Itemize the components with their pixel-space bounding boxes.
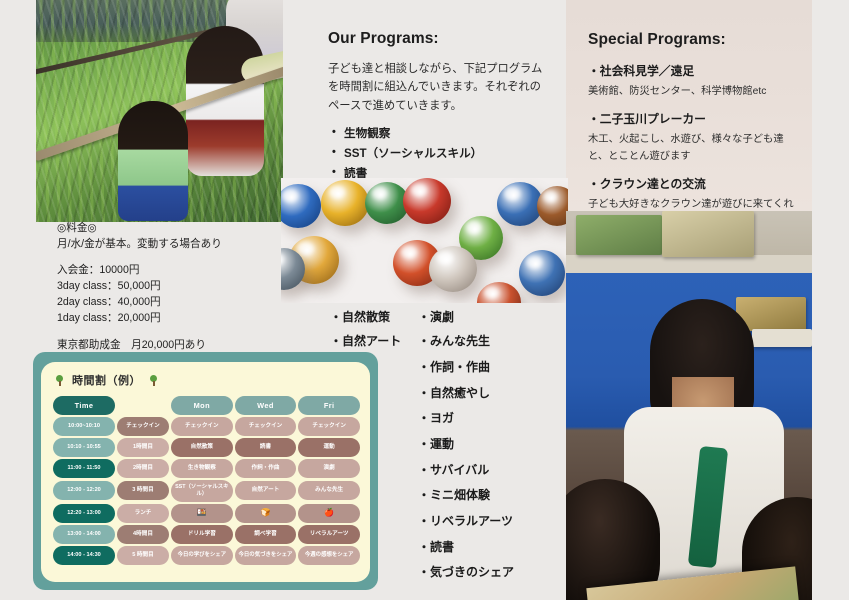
timetable-activity-cell-mon: 今日の学びをシェア bbox=[171, 546, 233, 565]
timetable-activity-cell-mon: 生き物観察 bbox=[171, 459, 233, 478]
program-bullet: SST（ソーシャルスキル） bbox=[328, 144, 550, 164]
photo-shelf bbox=[566, 255, 812, 273]
timetable-row: 13:00 - 14:004時間目ドリル学習調べ学習リベラルアーツ bbox=[53, 525, 360, 544]
pill-label: 調べ学習 bbox=[235, 525, 297, 544]
timetable-period-cell: 5 時間目 bbox=[117, 546, 169, 565]
special-programs-heading: Special Programs: bbox=[588, 31, 796, 49]
pill-label: Mon bbox=[171, 396, 233, 415]
photo-kids-outdoors bbox=[36, 0, 283, 222]
timetable-row: 10:00~10:10チェックインチェックインチェックインチェックイン bbox=[53, 417, 360, 436]
marble bbox=[519, 250, 565, 296]
timetable-period-cell: 1時間目 bbox=[117, 438, 169, 457]
pill-label: 3 時間目 bbox=[117, 481, 169, 500]
timetable-title-row: 時間割（例） bbox=[55, 372, 362, 388]
flyer-page: Our Programs: 子ども達と相談しながら、下記プログラムを時間割に組込… bbox=[0, 0, 849, 600]
activities-top-list: ・自然散策 ・演劇 ・自然アート ・みんな先生 bbox=[330, 305, 560, 353]
timetable-time-cell: 10:10 - 10:55 bbox=[53, 438, 115, 457]
marble bbox=[403, 178, 451, 224]
timetable-activity-cell-fri: 🍎 bbox=[298, 504, 360, 523]
our-programs-bullet-list: 生物観察 SST（ソーシャルスキル） 読書 bbox=[328, 124, 550, 184]
timetable-period-cell: 3 時間目 bbox=[117, 480, 169, 502]
activities-main-list: ・作詞・作曲 ・自然癒やし ・ヨガ ・運動 ・サバイバル ・ミニ畑体験 ・リベラ… bbox=[418, 355, 588, 586]
pill-label: 🍎 bbox=[298, 504, 360, 523]
timetable-card: 時間割（例） TimeMonWedFri10:00~10:10チェックインチェッ… bbox=[33, 352, 378, 590]
fee-line: 1day class：20,000円 bbox=[57, 310, 287, 326]
timetable-time-cell: 13:00 - 14:00 bbox=[53, 525, 115, 544]
special-item-desc: 美術館、防災センター、科学博物館etc bbox=[588, 83, 796, 101]
timetable-activity-cell-mon: ドリル学習 bbox=[171, 525, 233, 544]
timetable-activity-cell-fri: チェックイン bbox=[298, 417, 360, 436]
pill-label: Fri bbox=[298, 396, 360, 415]
activity-item: ・自然散策 bbox=[330, 305, 418, 329]
timetable-row: 11:00 - 11:502時間目生き物観察作詞・作曲演劇 bbox=[53, 459, 360, 478]
photo-marbles bbox=[281, 178, 568, 303]
timetable-row: 10:10 - 10:551時間目自然散策読書運動 bbox=[53, 438, 360, 457]
activity-item: ・サバイバル bbox=[418, 458, 588, 484]
activity-item: ・ミニ畑体験 bbox=[418, 483, 588, 509]
pill-label: リベラルアーツ bbox=[298, 525, 360, 544]
timetable-header-mon: Mon bbox=[171, 396, 233, 415]
timetable-period-cell: 4時間目 bbox=[117, 525, 169, 544]
fee-block: ◎料金◎ 月/水/金が基本。変動する場合あり 入会金：10000円 3day c… bbox=[57, 220, 287, 353]
pill-label: 4時間目 bbox=[117, 525, 169, 544]
pill-label: 🍞 bbox=[235, 504, 297, 523]
photo-book bbox=[752, 329, 812, 347]
timetable-activity-cell-wed: 🍞 bbox=[235, 504, 297, 523]
pill-label: 読書 bbox=[235, 438, 297, 457]
timetable-title: 時間割（例） bbox=[72, 372, 141, 388]
photo-book bbox=[662, 211, 754, 257]
pill-label: 12:00 - 12:20 bbox=[53, 481, 115, 500]
activity-item: ・みんな先生 bbox=[418, 329, 490, 353]
timetable-activity-cell-wed: チェックイン bbox=[235, 417, 297, 436]
timetable-time-cell: 12:20 - 13:00 bbox=[53, 504, 115, 523]
activity-item: ・作詞・作曲 bbox=[418, 355, 588, 381]
timetable-header-spacer bbox=[117, 396, 169, 415]
timetable-activity-cell-mon: チェックイン bbox=[171, 417, 233, 436]
timetable-activity-cell-wed: 作詞・作曲 bbox=[235, 459, 297, 478]
pill-label: 生き物観察 bbox=[171, 459, 233, 478]
timetable-time-cell: 11:00 - 11:50 bbox=[53, 459, 115, 478]
timetable-activity-cell-fri: リベラルアーツ bbox=[298, 525, 360, 544]
special-item-title: ・クラウン達との交流 bbox=[588, 175, 796, 192]
fee-subsidy: 東京都助成金 月20,000円あり bbox=[57, 337, 287, 353]
pill-label: 演劇 bbox=[298, 459, 360, 478]
pill-label: 運動 bbox=[298, 438, 360, 457]
pill-label: Time bbox=[53, 396, 115, 415]
activity-item: ・自然癒やし bbox=[418, 381, 588, 407]
pill-label: 11:00 - 11:50 bbox=[53, 459, 115, 478]
timetable-inner: 時間割（例） TimeMonWedFri10:00~10:10チェックインチェッ… bbox=[41, 362, 370, 582]
timetable-header-time: Time bbox=[53, 396, 115, 415]
activity-row: ・自然散策 ・演劇 bbox=[330, 305, 560, 329]
pill-label: 2時間目 bbox=[117, 459, 169, 478]
pill-label: チェックイン bbox=[298, 417, 360, 436]
activity-item: ・演劇 bbox=[418, 305, 454, 329]
activity-item: ・自然アート bbox=[330, 329, 418, 353]
marble bbox=[429, 246, 477, 292]
timetable-activity-cell-mon: SST（ソーシャルスキル） bbox=[171, 480, 233, 502]
our-programs-panel: Our Programs: 子ども達と相談しながら、下記プログラムを時間割に組込… bbox=[283, 0, 568, 178]
timetable-row: 14:00 - 14:305 時間目今日の学びをシェア今日の気づきをシェア今週の… bbox=[53, 546, 360, 565]
timetable-activity-cell-fri: 運動 bbox=[298, 438, 360, 457]
timetable-table: TimeMonWedFri10:00~10:10チェックインチェックインチェック… bbox=[51, 394, 362, 567]
marble bbox=[537, 186, 568, 226]
timetable-header-fri: Fri bbox=[298, 396, 360, 415]
timetable-activity-cell-wed: 読書 bbox=[235, 438, 297, 457]
marble bbox=[281, 184, 321, 228]
pill-label: 自然アート bbox=[235, 481, 297, 500]
pill-label: 🍱 bbox=[171, 504, 233, 523]
fee-line: 2day class：40,000円 bbox=[57, 294, 287, 310]
activity-item: ・リベラルアーツ bbox=[418, 509, 588, 535]
timetable-time-cell: 10:00~10:10 bbox=[53, 417, 115, 436]
timetable-activity-cell-wed: 今日の気づきをシェア bbox=[235, 546, 297, 565]
special-programs-panel: Special Programs: ・社会科見学／遠足 美術館、防災センター、科… bbox=[566, 0, 812, 211]
marble bbox=[477, 282, 521, 303]
pill-label: みんな先生 bbox=[298, 481, 360, 500]
pill-label: SST（ソーシャルスキル） bbox=[171, 480, 233, 502]
photo-book bbox=[576, 215, 662, 255]
timetable-header-wed: Wed bbox=[235, 396, 297, 415]
fee-line: 入会金：10000円 bbox=[57, 262, 287, 278]
activity-item: ・読書 bbox=[418, 535, 588, 561]
timetable-row: 12:00 - 12:203 時間目SST（ソーシャルスキル）自然アートみんな先… bbox=[53, 480, 360, 502]
timetable-header-row: TimeMonWedFri bbox=[53, 396, 360, 415]
pill-label: チェックイン bbox=[235, 417, 297, 436]
tree-icon bbox=[55, 375, 64, 386]
pill-label: 今週の感想をシェア bbox=[298, 546, 360, 565]
pill-label: 作詞・作曲 bbox=[235, 459, 297, 478]
activity-item: ・運動 bbox=[418, 432, 588, 458]
pill-label: 10:00~10:10 bbox=[53, 417, 115, 436]
activity-item: ・気づきのシェア bbox=[418, 560, 588, 586]
special-item-title: ・社会科見学／遠足 bbox=[588, 62, 796, 79]
photo-classroom bbox=[566, 211, 812, 600]
timetable-period-cell: 2時間目 bbox=[117, 459, 169, 478]
fee-schedule: 月/水/金が基本。変動する場合あり bbox=[57, 236, 287, 252]
our-programs-heading: Our Programs: bbox=[328, 30, 550, 48]
photo-child-boy bbox=[118, 101, 188, 221]
pill-label: ランチ bbox=[117, 504, 169, 523]
pill-label: 今日の学びをシェア bbox=[171, 546, 233, 565]
activity-item: ・ヨガ bbox=[418, 406, 588, 432]
special-item-desc: 木工、火起こし、水遊び、様々な子ども達と、とことん遊びます bbox=[588, 131, 796, 166]
pill-label: チェックイン bbox=[117, 417, 169, 436]
timetable-activity-cell-mon: 🍱 bbox=[171, 504, 233, 523]
timetable-activity-cell-fri: みんな先生 bbox=[298, 480, 360, 502]
pill-label: 自然散策 bbox=[171, 438, 233, 457]
timetable-row: 12:20 - 13:00ランチ🍱🍞🍎 bbox=[53, 504, 360, 523]
pill-label: 13:00 - 14:00 bbox=[53, 525, 115, 544]
pill-label: 14:00 - 14:30 bbox=[53, 546, 115, 565]
timetable-activity-cell-wed: 調べ学習 bbox=[235, 525, 297, 544]
pill-label: 1時間目 bbox=[117, 438, 169, 457]
timetable-period-cell: ランチ bbox=[117, 504, 169, 523]
timetable-activity-cell-fri: 今週の感想をシェア bbox=[298, 546, 360, 565]
program-bullet: 生物観察 bbox=[328, 124, 550, 144]
timetable-time-cell: 12:00 - 12:20 bbox=[53, 480, 115, 502]
pill-label: ドリル学習 bbox=[171, 525, 233, 544]
pill-label: Wed bbox=[235, 396, 297, 415]
tree-icon bbox=[149, 375, 158, 386]
pill-label: 今日の気づきをシェア bbox=[235, 546, 297, 565]
pill-label: 5 時間目 bbox=[117, 546, 169, 565]
timetable-activity-cell-mon: 自然散策 bbox=[171, 438, 233, 457]
timetable-activity-cell-wed: 自然アート bbox=[235, 480, 297, 502]
timetable-activity-cell-fri: 演劇 bbox=[298, 459, 360, 478]
timetable-period-cell: チェックイン bbox=[117, 417, 169, 436]
fee-line: 3day class：50,000円 bbox=[57, 278, 287, 294]
special-item-title: ・二子玉川プレーカー bbox=[588, 110, 796, 127]
activity-row: ・自然アート ・みんな先生 bbox=[330, 329, 560, 353]
timetable-time-cell: 14:00 - 14:30 bbox=[53, 546, 115, 565]
our-programs-intro: 子ども達と相談しながら、下記プログラムを時間割に組込んでいきます。それぞれのペー… bbox=[328, 60, 550, 115]
pill-label: チェックイン bbox=[171, 417, 233, 436]
pill-label: 12:20 - 13:00 bbox=[53, 504, 115, 523]
pill-label: 10:10 - 10:55 bbox=[53, 438, 115, 457]
marble bbox=[321, 180, 369, 226]
fee-heading: ◎料金◎ bbox=[57, 220, 287, 236]
